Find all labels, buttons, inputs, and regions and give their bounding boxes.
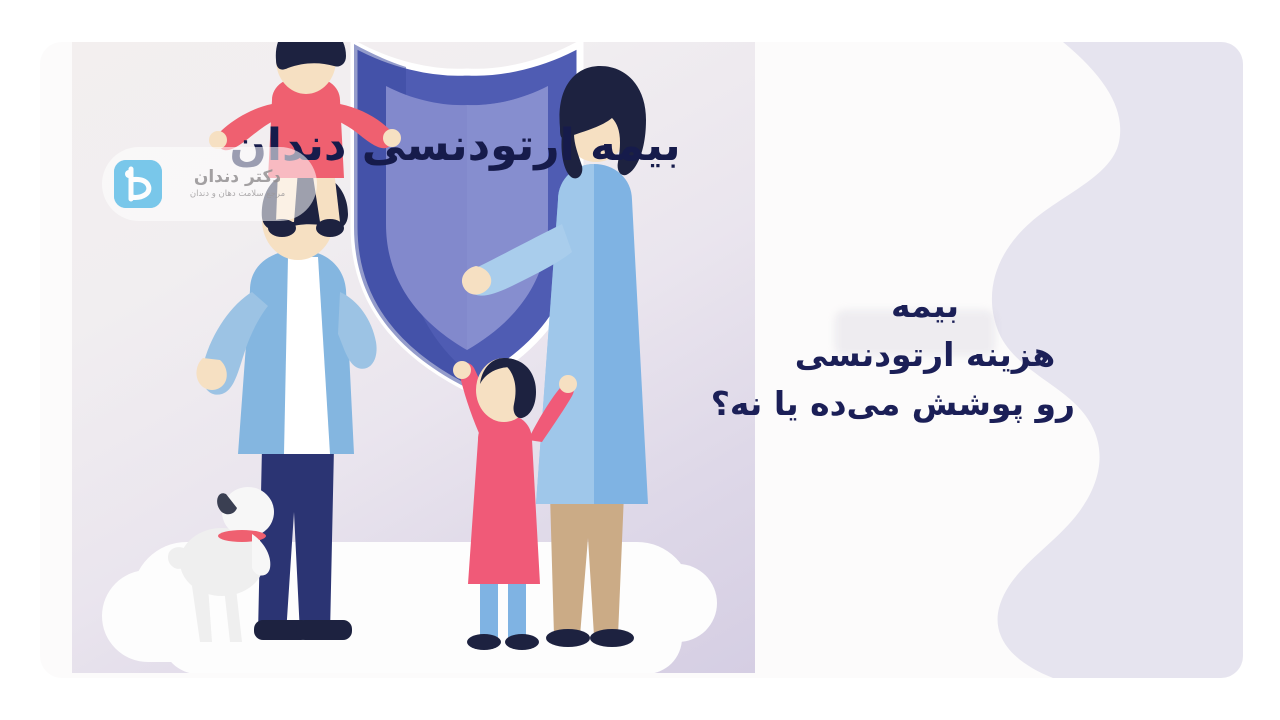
poster-canvas: بیمه ارتودنسی دندان دکتر دندان مرجع سلام… (0, 0, 1280, 720)
poster-card: بیمه ارتودنسی دندان دکتر دندان مرجع سلام… (40, 42, 1243, 678)
headline-line-3: رو پوشش می‌ده یا نه؟ (775, 380, 1075, 429)
watermark-tagline: مرجع سلامت دهان و دندان (170, 190, 305, 200)
headline-line-2: هزینه ارتودنسی (775, 331, 1075, 380)
dental-d-logo-icon (114, 160, 162, 208)
headline-block: بیمه هزینه ارتودنسی رو پوشش می‌ده یا نه؟ (775, 282, 1075, 428)
watermark-brand-name: دکتر دندان (170, 168, 305, 188)
headline-line-1: بیمه (775, 282, 1075, 331)
watermark-badge: دکتر دندان مرجع سلامت دهان و دندان (102, 147, 317, 221)
watermark-text-block: دکتر دندان مرجع سلامت دهان و دندان (170, 168, 305, 199)
